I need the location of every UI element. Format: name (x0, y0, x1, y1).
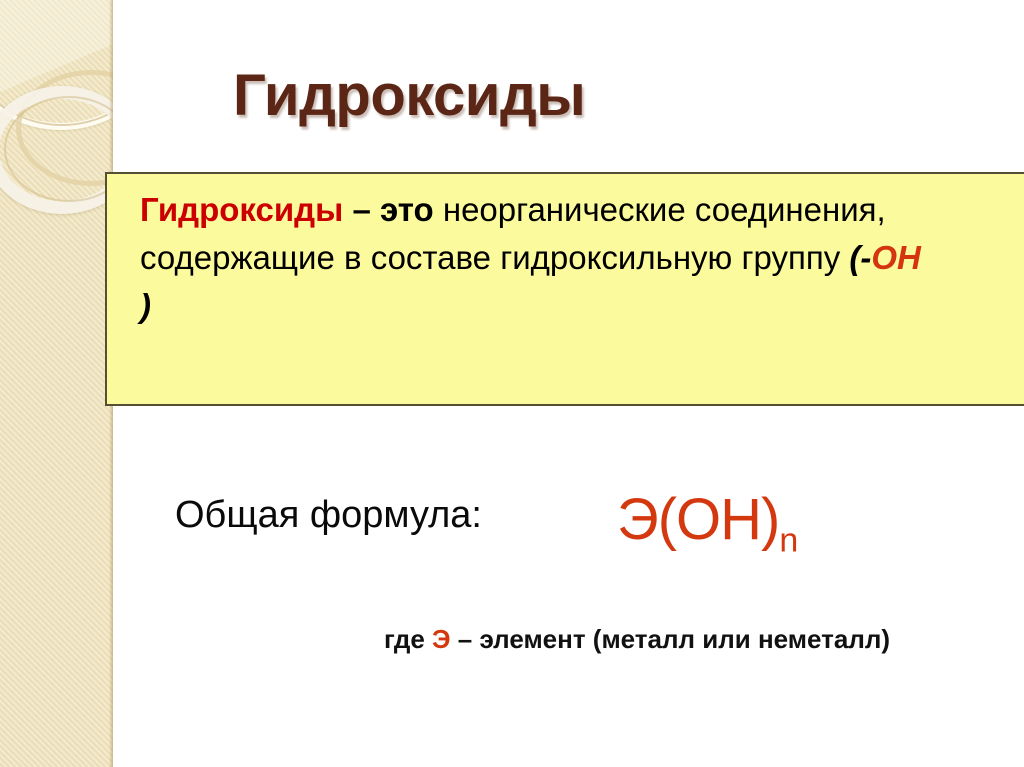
definition-dash-is: – это (343, 191, 443, 228)
definition-group-close: ) (140, 287, 151, 324)
definition-group-open: (- (849, 239, 871, 276)
legend-element-symbol: Э (432, 624, 451, 654)
formula-subscript: n (779, 522, 798, 560)
formula-legend: где Э – элемент (металл или неметалл) (384, 624, 890, 655)
legend-suffix: – элемент (металл или неметалл) (451, 624, 891, 654)
legend-prefix: где (384, 624, 432, 654)
general-formula-label: Общая формула: (175, 494, 482, 537)
definition-group-symbol: OH (871, 239, 921, 276)
slide: Гидроксиды Гидроксиды – это неорганическ… (0, 0, 1024, 767)
page-title: Гидроксиды (233, 62, 585, 129)
definition-callout: Гидроксиды – это неорганические соединен… (105, 172, 1024, 406)
formula-base: Э(ОН) (617, 487, 779, 552)
decorative-sidebar (0, 0, 113, 767)
definition-term: Гидроксиды (140, 191, 343, 228)
general-formula-value: Э(ОН)n (617, 486, 798, 561)
definition-text: Гидроксиды – это неорганические соединен… (140, 186, 940, 330)
